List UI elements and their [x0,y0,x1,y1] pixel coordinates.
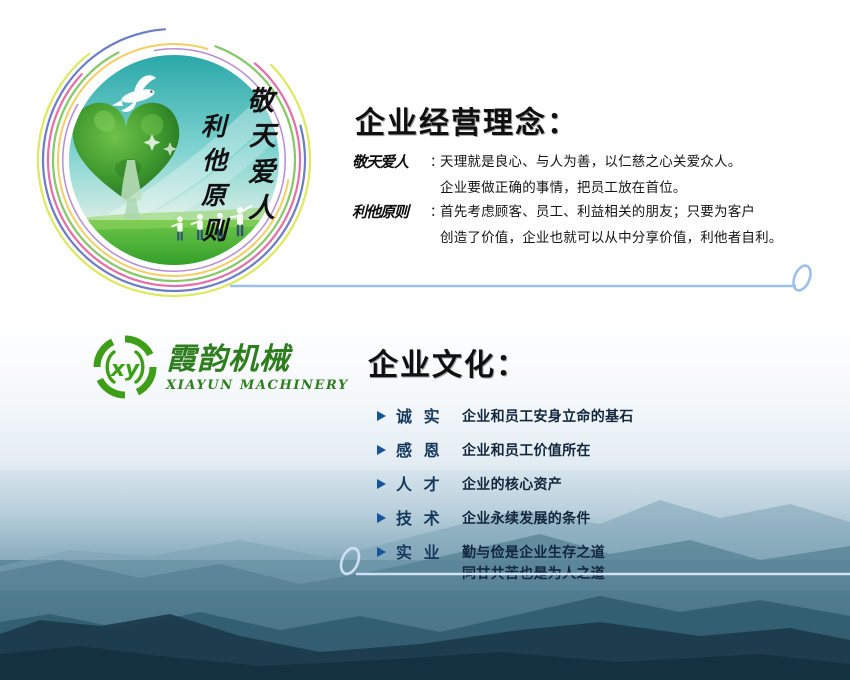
svg-text:人: 人 [248,193,275,224]
philosophy-colon: ： [430,150,440,174]
philosophy-text: 首先考虑顾客、员工、利益相关的朋友；只要为客户 [440,200,822,224]
svg-text:他: 他 [202,146,230,175]
culture-item: 技 术 企业永续发展的条件 [376,508,806,529]
philosophy-continuation: 创造了价值，企业也就可以从中分享价值，利他者自利。 [440,226,822,250]
culture-item: 诚 实 企业和员工安身立命的基石 [376,406,806,427]
svg-text:天: 天 [249,121,279,152]
philosophy-label: 敬天爱人 [352,150,430,174]
brand-logo: xy 霞韵机械 XIAYUN MACHINERY [92,334,332,400]
svg-text:则: 则 [202,216,231,245]
culture-heading: 企业文化： [368,340,528,384]
philosophy-text: 天理就是良心、与人为善，以仁慈之心关爱众人。 [440,150,822,174]
culture-item: 人 才 企业的核心资产 [376,474,806,495]
culture-item-key: 诚 实 [396,406,462,427]
culture-value-line1: 企业永续发展的条件 [462,510,591,526]
philosophy-colon: ： [430,200,440,224]
philosophy-label: 利他原则 [352,200,430,224]
culture-item-key: 人 才 [396,474,462,495]
philosophy-heading: 企业经营理念： [355,98,579,142]
culture-value-line1: 企业和员工价值所在 [462,442,591,458]
culture-item-value: 企业和员工价值所在 [462,440,806,461]
philosophy-continuation: 企业要做正确的事情，把员工放在首位。 [440,176,822,200]
philosophy-row: 利他原则 ： 首先考虑顾客、员工、利益相关的朋友；只要为客户 [352,200,822,224]
svg-text:敬: 敬 [247,86,278,117]
svg-text:利: 利 [201,112,230,141]
brand-name-cn: 霞韵机械 [166,343,349,377]
brand-wordmark: 霞韵机械 XIAYUN MACHINERY [166,341,349,394]
culture-item: 感 恩 企业和员工价值所在 [376,440,806,461]
culture-item-key: 技 术 [396,508,462,529]
brand-name-en: XIAYUN MACHINERY [166,377,349,394]
divider-ring-icon [790,264,814,293]
xy-logo-icon: xy [92,334,158,400]
culture-value-line1: 企业的核心资产 [462,476,562,492]
culture-item-value: 企业永续发展的条件 [462,508,806,529]
triangle-bullet-icon [376,440,396,456]
divider-top [230,264,830,298]
triangle-bullet-icon [376,406,396,422]
svg-text:xy: xy [110,357,141,382]
triangle-bullet-icon [376,508,396,524]
culture-item-value: 企业的核心资产 [462,474,806,495]
triangle-bullet-icon [376,474,396,490]
philosophy-block: 敬天爱人 ： 天理就是良心、与人为善，以仁慈之心关爱众人。 企业要做正确的事情，… [352,150,822,250]
poster-canvas: 敬 天 爱 人 利 他 原 则 企业经营理念： 敬天爱人 ： 天理就是良心、与人… [0,0,850,680]
divider-bottom [336,546,850,580]
culture-item-value: 企业和员工安身立命的基石 [462,406,806,427]
culture-value-line1: 企业和员工安身立命的基石 [462,408,634,424]
mountain-ridge-foreground [0,600,850,680]
divider-ring-icon [338,546,363,577]
philosophy-row: 敬天爱人 ： 天理就是良心、与人为善，以仁慈之心关爱众人。 [352,150,822,174]
svg-text:爱: 爱 [248,157,278,188]
culture-item-key: 感 恩 [396,440,462,461]
